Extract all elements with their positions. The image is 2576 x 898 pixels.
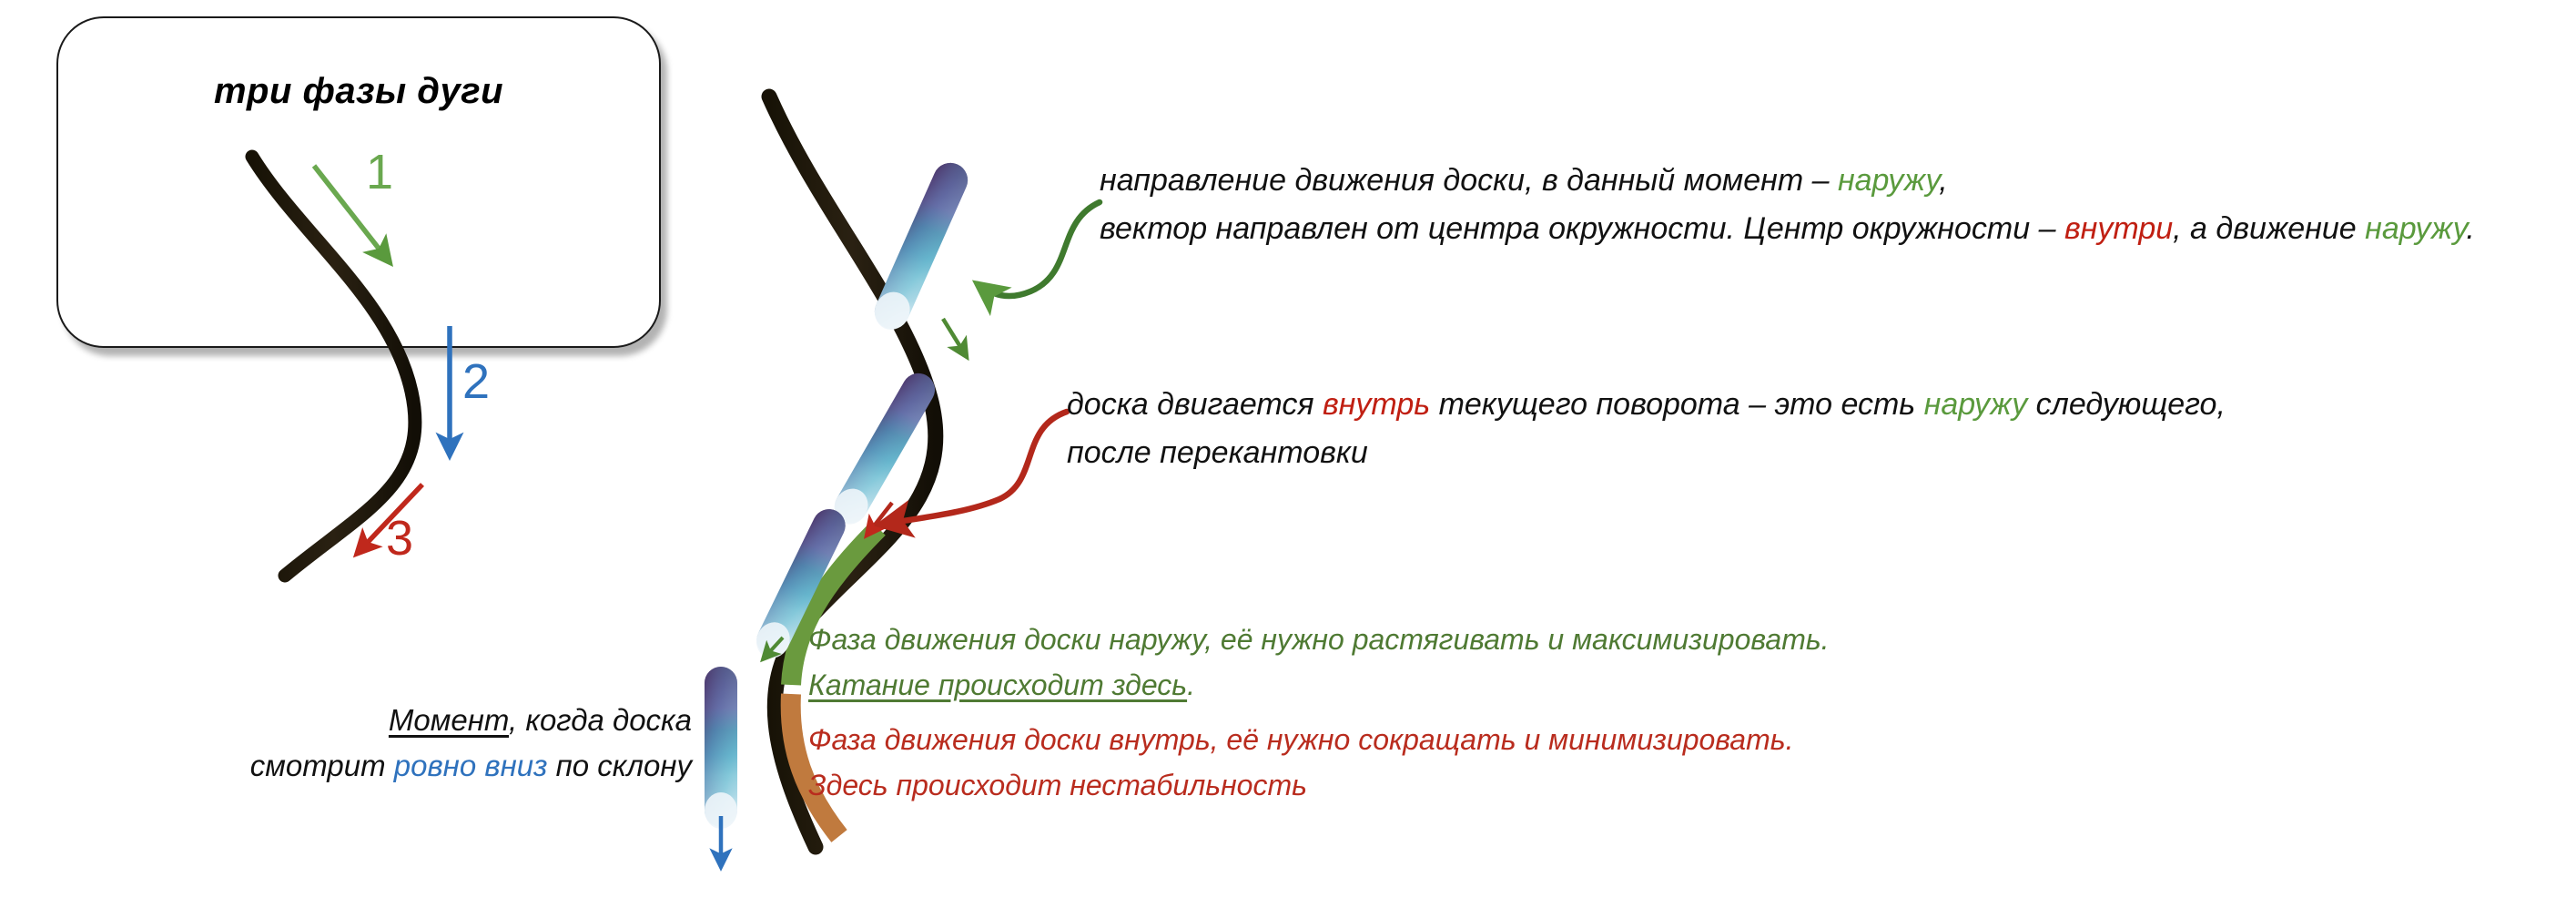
- page-title: три фазы дуги: [58, 71, 659, 112]
- board-lower-direction-arrow: [763, 638, 783, 659]
- caption-line-1: Момент, когда доска: [182, 698, 692, 743]
- red-block-line-1: Фаза движения доски внутрь, её нужно сок…: [808, 718, 1793, 763]
- annotation-direction-of-travel: направление движения доски, в данный мом…: [1100, 157, 2475, 252]
- text-run: направление движения доски, в данный мом…: [1100, 163, 1838, 198]
- highlight-inward: внутрь: [1323, 387, 1430, 422]
- text-run: .: [2466, 211, 2474, 246]
- snowboard-upper: [868, 158, 973, 335]
- green-callout-arrow: [978, 202, 1100, 296]
- text-run: смотрит: [250, 749, 394, 782]
- snowboard-middle: [827, 367, 940, 530]
- text-run: ,: [1939, 163, 1947, 198]
- three-phases-panel: три фазы дуги: [56, 16, 661, 348]
- red-callout-arrow: [881, 412, 1067, 525]
- annotation-middle-line-1: доска двигается внутрь текущего поворота…: [1067, 381, 2226, 429]
- diagram-canvas: три фазы дуги 1 2 3: [0, 0, 2576, 898]
- red-block-line-2: Здесь происходит нестабильность: [808, 763, 1793, 809]
- annotation-green-phase: Фаза движения доски наружу, её нужно рас…: [808, 617, 1830, 708]
- annotation-red-phase: Фаза движения доски внутрь, её нужно сок…: [808, 718, 1793, 808]
- text-run: , когда доска: [509, 703, 692, 737]
- highlight-fall-line: ровно вниз: [394, 749, 548, 782]
- text-run: текущего поворота – это есть: [1430, 387, 1924, 422]
- highlight-outward: наружу: [1838, 163, 1939, 198]
- highlight-outward: наружу: [1924, 387, 2028, 422]
- green-block-line-2: Катание происходит здесь.: [808, 663, 1830, 709]
- snowboard-fall-line: [705, 667, 737, 829]
- board-upper-direction-arrow: [943, 319, 967, 357]
- text-run: доска двигается: [1067, 387, 1323, 422]
- phase-number-2: 2: [462, 353, 490, 410]
- phase-number-1: 1: [366, 144, 393, 200]
- annotation-middle-line-2: после перекантовки: [1067, 429, 2226, 477]
- annotation-top-line-1: направление движения доски, в данный мом…: [1100, 157, 2475, 205]
- highlight-outward: наружу: [2365, 211, 2466, 246]
- text-run: , а движение: [2173, 211, 2365, 246]
- text-run: следующего,: [2027, 387, 2226, 422]
- annotation-fall-line-caption: Момент, когда доска смотрит ровно вниз п…: [182, 698, 692, 788]
- text-run: .: [1187, 668, 1195, 701]
- text-run: по склону: [547, 749, 692, 782]
- text-run: вектор направлен от центра окружности. Ц…: [1100, 211, 2064, 246]
- board-middle-direction-arrow: [867, 503, 892, 536]
- underlined-text: Катание происходит здесь: [808, 668, 1187, 701]
- annotation-inward-of-current-turn: доска двигается внутрь текущего поворота…: [1067, 381, 2226, 476]
- phase-number-3: 3: [386, 510, 413, 566]
- highlight-inside: внутри: [2064, 211, 2173, 246]
- underlined-text: Момент: [389, 703, 509, 737]
- green-block-line-1: Фаза движения доски наружу, её нужно рас…: [808, 617, 1830, 663]
- caption-line-2: смотрит ровно вниз по склону: [182, 743, 692, 789]
- annotation-top-line-2: вектор направлен от центра окружности. Ц…: [1100, 205, 2475, 253]
